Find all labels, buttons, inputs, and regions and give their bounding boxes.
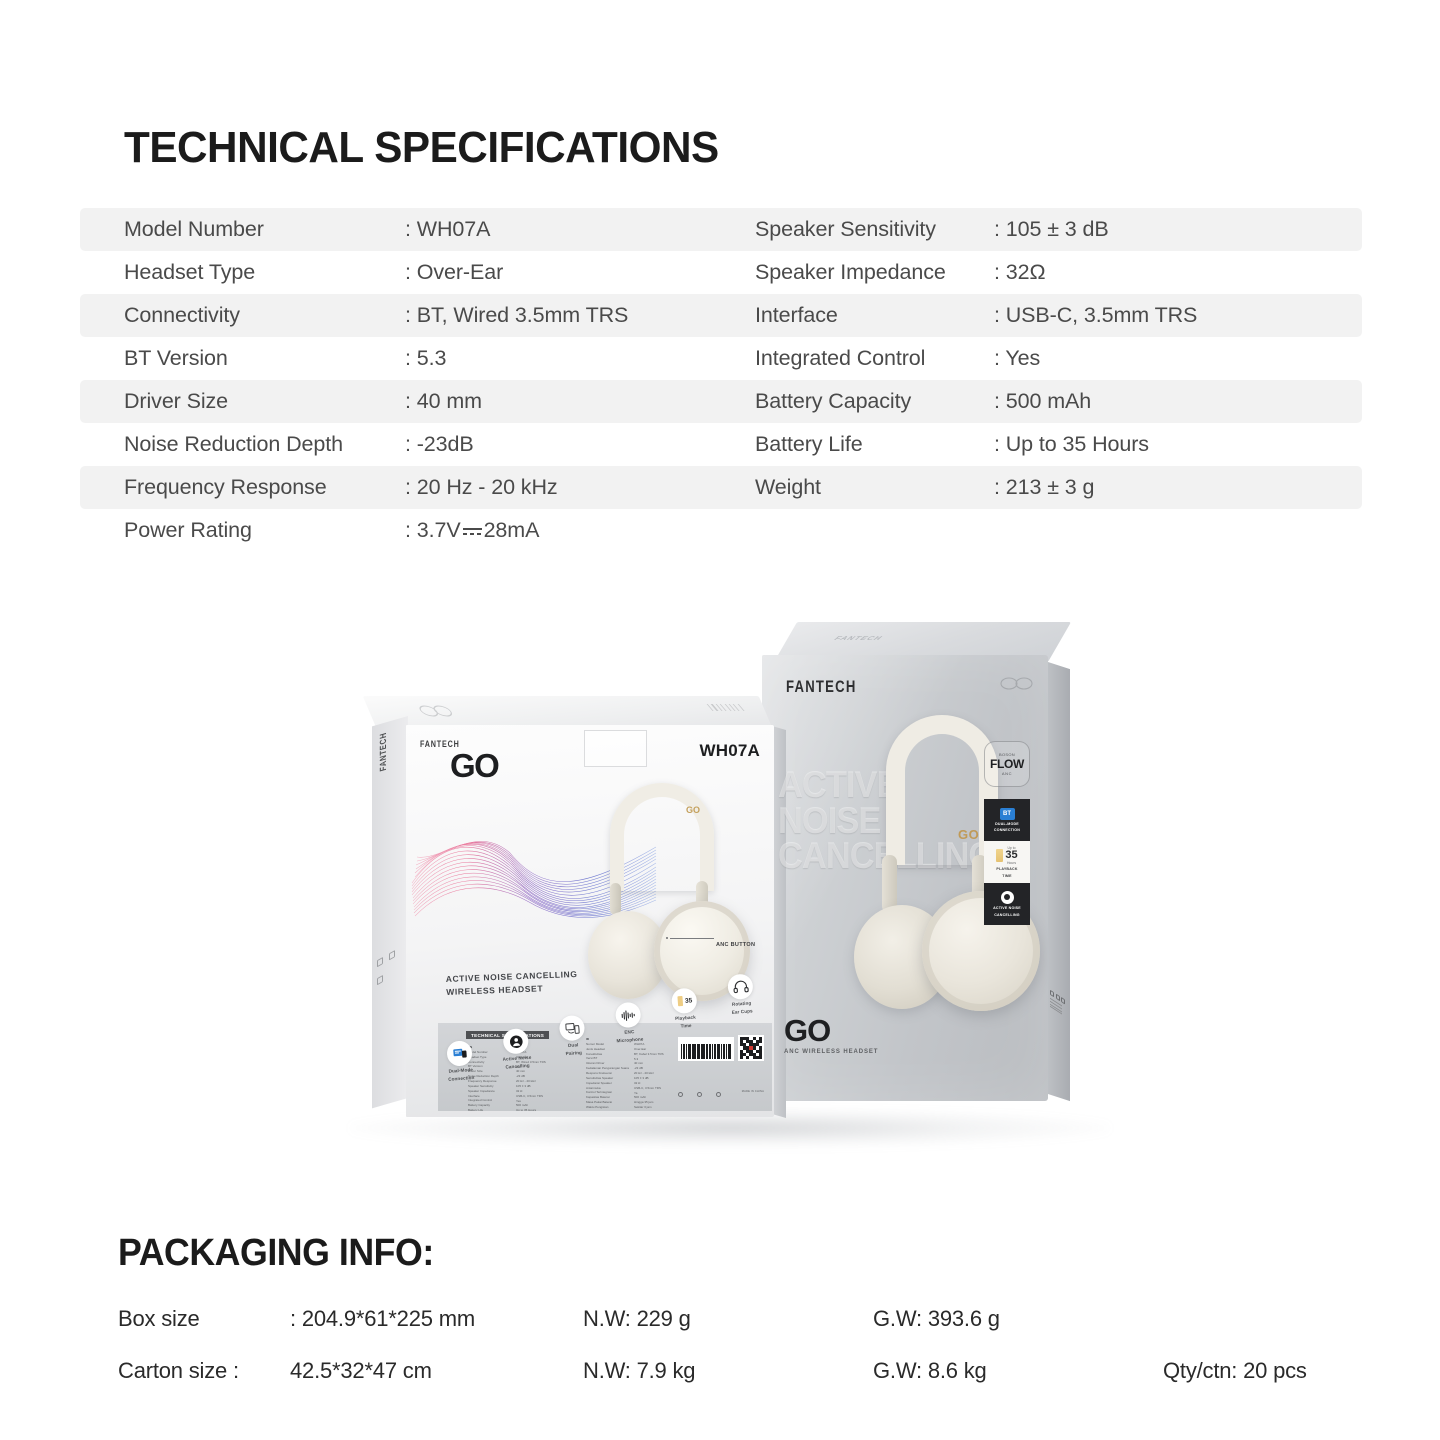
cert-icon [1056,993,1060,1001]
rotating-earcups-icon [727,973,754,1000]
product-box-back: FANTECH FANTECH ACTIVE NOISE CANCELLING [752,622,1062,1122]
badge-label-line2: CONNECTION [994,828,1020,832]
spec-value: : 3.7V28mA [405,518,539,543]
spec-value: : 500 mAh [994,389,1091,414]
flow-badge-main-text: FLOW [990,757,1024,771]
compliance-icon [697,1092,702,1097]
box-front-left-side-panel: FANTECH [372,716,408,1108]
table-row-power-rating: Power Rating : 3.7V28mA [80,509,1362,552]
bluetooth-device-icon [446,1040,473,1067]
playback-hours-value: 35 [1005,850,1017,861]
anc-button-callout-label: ANC BUTTON [716,942,755,948]
spec-key: Integrated Control [755,346,994,371]
headphone-headband [610,783,714,891]
box-top-vent-marks [707,704,745,711]
spec-cell-left: Power Rating : 3.7V28mA [80,509,721,552]
spec-cell-left: Connectivity : BT, Wired 3.5mm TRS [80,294,721,337]
box-front-face: FANTECH GO WH07A [406,725,774,1117]
carton-size-label: Carton size : [118,1358,290,1384]
spec-value: : 20 Hz - 20 kHz [405,475,558,500]
dc-power-icon [463,527,482,538]
spec-cell-left: Noise Reduction Depth : -23dB [80,423,721,466]
feature-label-line1: Active Noise [502,1055,531,1063]
box-size-label: Box size [118,1306,290,1332]
spec-cell-left: Headset Type : Over-Ear [80,251,721,294]
feature-label-line1: Dual-Mode [448,1067,473,1075]
side-certification-icons [377,937,408,991]
spec-key: Model Number [124,217,405,242]
headphone-headband [886,715,998,865]
svg-text:35: 35 [684,997,692,1005]
power-rating-prefix: : 3.7V [405,518,461,542]
feature-label-line1: Playback [675,1015,696,1022]
table-row: Driver Size : 40 mm Battery Capacity : 5… [80,380,1362,423]
table-row: Model Number : WH07A Speaker Sensitivity… [80,208,1362,251]
box-back-side-panel [1048,662,1070,1101]
spec-cell-left: BT Version : 5.3 [80,337,721,380]
spec-cell-left: Model Number : WH07A [80,208,721,251]
table-row: Noise Reduction Depth : -23dB Battery Li… [80,423,1362,466]
box-back-go-lockup: GO ANC WIRELESS HEADSET [784,1015,878,1055]
flow-badge-bottom-text: ANC [1002,771,1012,776]
person-anc-icon [502,1028,529,1055]
qty-per-carton: Qty/ctn: 20 pcs [1163,1358,1307,1384]
feature-label-line1: Rotating [732,1000,752,1007]
cert-icon [377,957,383,967]
spec-cell-right: Weight : 213 ± 3 g [721,466,1362,509]
carton-size-value: 42.5*32*47 cm [290,1358,583,1384]
feature-active-noise-cancelling: Active Noise Cancelling [486,1027,546,1072]
box-size-value: : 204.9*61*225 mm [290,1306,583,1332]
feature-label-line2: Microphone [616,1036,643,1044]
spec-value: : USB-C, 3.5mm TRS [994,303,1197,328]
compliance-icon [678,1092,683,1097]
box-net-weight: N.W: 229 g [583,1306,873,1332]
feature-enc-microphone: ENC Microphone [599,1000,659,1045]
spec-panel-compliance-icons [678,1092,721,1097]
spec-value: : WH07A [405,217,490,242]
cert-icon [377,975,383,985]
spec-value: : 105 ± 3 dB [994,217,1109,242]
waveform-mic-icon [615,1002,642,1029]
feature-label-line2: Pairing [565,1050,582,1057]
brand-logo-fantech: FANTECH [786,679,857,698]
spec-key: Interface [755,303,994,328]
feature-label-line1: ENC [624,1029,634,1036]
power-rating-suffix: 28mA [484,518,540,542]
spec-key: BT Version [124,346,405,371]
go-outline-icon [414,704,461,722]
product-packaging-scene: FANTECH FANTECH ACTIVE NOISE CANCELLING [0,600,1440,1220]
packaging-row-carton: Carton size : 42.5*32*47 cm N.W: 7.9 kg … [118,1345,1348,1397]
headphone-arm-left [610,883,621,915]
table-row: BT Version : 5.3 Integrated Control : Ye… [80,337,1362,380]
badge-playback-time: Up to 35 Hours PLAYBACK TIME [984,841,1030,883]
badge-active-noise-cancelling: ACTIVE NOISE CANCELLING [984,883,1030,925]
feature-badges-column: BOSON FLOW ANC BT DUAL-MODE CONNECTION U… [984,741,1034,925]
side-brand-fantech: FANTECH [378,731,388,772]
spec-cell-right: Battery Capacity : 500 mAh [721,380,1362,423]
table-row: Connectivity : BT, Wired 3.5mm TRS Inter… [80,294,1362,337]
packaging-info-grid: Box size : 204.9*61*225 mm N.W: 229 g G.… [118,1293,1348,1397]
badge-dual-mode-connection: BT DUAL-MODE CONNECTION [984,799,1030,841]
go-subtitle: ANC WIRELESS HEADSET [784,1049,878,1055]
carton-net-weight: N.W: 7.9 kg [583,1358,873,1384]
spec-value: : -23dB [405,432,474,457]
callout-line [670,938,714,939]
table-row: Frequency Response : 20 Hz - 20 kHz Weig… [80,466,1362,509]
cert-icon [1050,990,1054,998]
badge-label-line1: DUAL-MODE [995,822,1019,826]
feature-dual-mode-connection: Dual-Mode Connection [430,1039,490,1084]
spec-value: : 5.3 [405,346,446,371]
go-logo-text: GO [450,749,498,782]
go-logo-text: GO [784,1015,878,1046]
product-box-front: FANTECH FANTECH GO WH07A [372,696,792,1136]
box-back-top-brand: FANTECH [832,635,885,641]
person-anc-icon [1001,891,1014,904]
page-title-packaging-info: PACKAGING INFO: [118,1232,434,1275]
box-back-front-face: FANTECH ACTIVE NOISE CANCELLING GO [762,655,1048,1101]
packaging-row-box: Box size : 204.9*61*225 mm N.W: 229 g G.… [118,1293,1348,1345]
spec-cell-right: Speaker Impedance : 32Ω [721,251,1362,294]
box-cutout-window [584,730,647,767]
badge-label-line1: PLAYBACK [996,867,1017,871]
go-outline-icon [1000,677,1034,695]
feature-label-line2: Ear Cups [732,1008,753,1015]
badge-label-line1: ACTIVE NOISE [993,906,1021,910]
compliance-icon [716,1092,721,1097]
spec-key: Headset Type [124,260,405,285]
cert-icon [1061,997,1065,1005]
spec-cell-right-empty [721,509,1362,552]
callout-dot [666,937,668,939]
bt-chip-icon: BT [1000,808,1015,820]
spec-cell-left: Driver Size : 40 mm [80,380,721,423]
headphone-go-branding: GO [958,827,979,842]
feature-label-line1: Dual [568,1042,579,1049]
dual-pairing-icon [559,1015,586,1042]
spec-key: Speaker Sensitivity [755,217,994,242]
spec-cell-right: Battery Life : Up to 35 Hours [721,423,1362,466]
headphone-arm-left [882,855,897,913]
flow-anc-badge: BOSON FLOW ANC [984,741,1030,787]
spec-value: : 40 mm [405,389,482,414]
anc-button-callout: ANC BUTTON [716,933,755,951]
spec-value: : Yes [994,346,1040,371]
badge-label-line2: TIME [1002,874,1011,878]
battery-35-icon: 35 [671,987,698,1014]
spec-value: : BT, Wired 3.5mm TRS [405,303,628,328]
spec-key: Frequency Response [124,475,405,500]
carton-gross-weight: G.W: 8.6 kg [873,1358,1163,1384]
feature-rotating-earcups: Rotating Ear Cups [711,972,771,1017]
technical-specifications-table: Model Number : WH07A Speaker Sensitivity… [80,208,1362,552]
feature-dual-pairing: Dual Pairing [543,1014,603,1059]
spec-value: : 32Ω [994,260,1045,285]
page-title-technical-specifications: TECHNICAL SPECIFICATIONS [124,123,719,173]
spec-key: Battery Capacity [755,389,994,414]
headphone-go-branding: GO [686,805,700,815]
spec-value: : 213 ± 3 g [994,475,1094,500]
feature-label-line2: Time [680,1023,691,1030]
box-gross-weight: G.W: 393.6 g [873,1306,1163,1332]
spec-key: Connectivity [124,303,405,328]
spec-key: Power Rating [124,518,405,543]
certification-icons [1050,990,1068,1021]
feature-playback-time: 35 Playback Time [655,986,715,1031]
battery-35-icon [996,849,1003,862]
spec-key: Driver Size [124,389,405,414]
cert-icon [389,950,395,960]
spec-key: Noise Reduction Depth [124,432,405,457]
spec-value: : Up to 35 Hours [994,432,1149,457]
spec-key: Speaker Impedance [755,260,994,285]
spec-key: Battery Life [755,432,994,457]
badge-label-line2: CANCELLING [994,913,1020,917]
spec-value: : Over-Ear [405,260,503,285]
model-number-label: WH07A [699,741,760,761]
spec-cell-right: Integrated Control : Yes [721,337,1362,380]
spec-cell-left: Frequency Response : 20 Hz - 20 kHz [80,466,721,509]
table-row: Headset Type : Over-Ear Speaker Impedanc… [80,251,1362,294]
spec-cell-right: Interface : USB-C, 3.5mm TRS [721,294,1362,337]
made-in-label: MADE IN CHINA [742,1090,764,1093]
playback-sub-bottom: Hours [1007,861,1016,865]
spec-cell-right: Speaker Sensitivity : 105 ± 3 dB [721,208,1362,251]
spec-key: Weight [755,475,994,500]
